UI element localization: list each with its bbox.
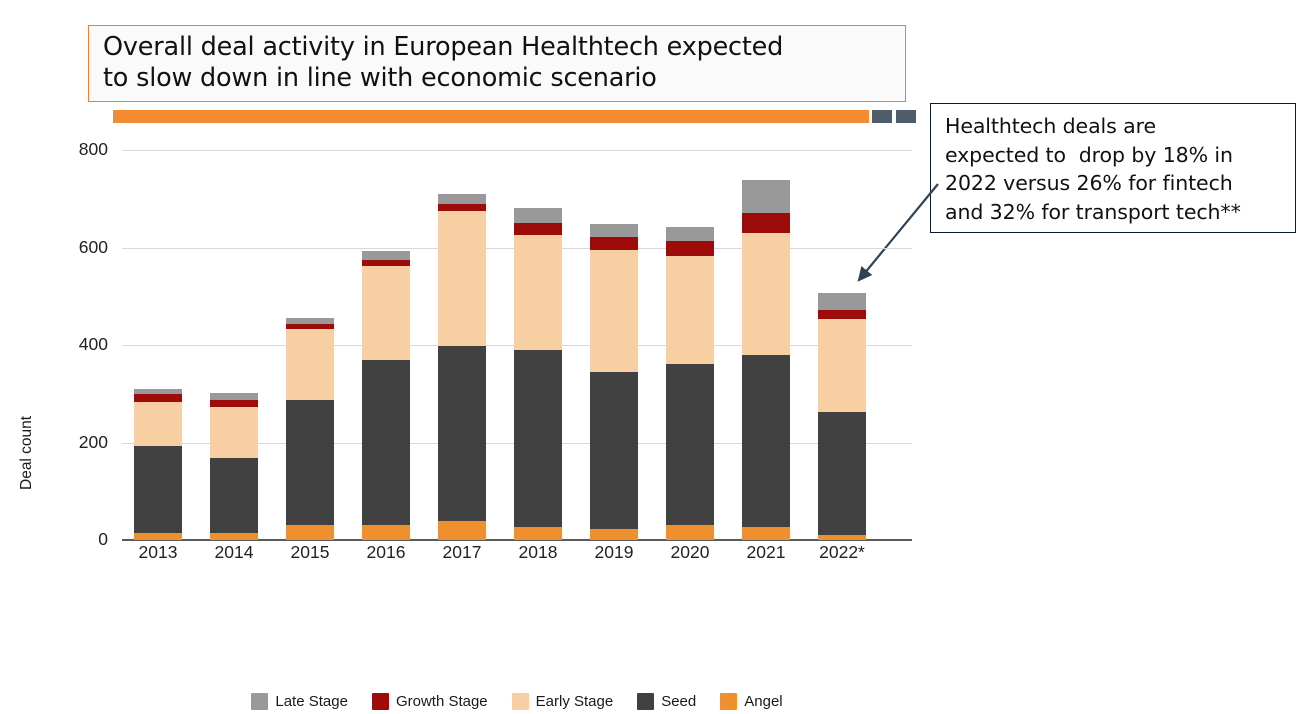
bar-segment-early-stage[interactable] <box>286 329 334 399</box>
bar-segment-growth-stage[interactable] <box>666 241 714 256</box>
bar-segment-growth-stage[interactable] <box>818 310 866 319</box>
bar-segment-growth-stage[interactable] <box>438 204 486 211</box>
y-axis-tick: 200 <box>38 432 108 453</box>
bar-segment-angel[interactable] <box>514 527 562 540</box>
y-axis-tick: 400 <box>38 334 108 355</box>
bar-segment-growth-stage[interactable] <box>134 394 182 402</box>
bar-2022[interactable] <box>818 293 866 540</box>
legend-swatch-icon <box>512 693 529 710</box>
x-axis-tick: 2017 <box>424 542 500 563</box>
x-axis-tick: 2020 <box>652 542 728 563</box>
bar-segment-seed[interactable] <box>742 355 790 527</box>
x-axis-tick: 2022* <box>804 542 880 563</box>
bar-2014[interactable] <box>210 393 258 540</box>
bar-segment-early-stage[interactable] <box>666 256 714 364</box>
legend-swatch-icon <box>720 693 737 710</box>
bar-2019[interactable] <box>590 224 638 540</box>
bar-segment-early-stage[interactable] <box>818 319 866 413</box>
x-axis-tick: 2013 <box>120 542 196 563</box>
legend-swatch-icon <box>372 693 389 710</box>
bar-segment-seed[interactable] <box>438 346 486 521</box>
bar-2013[interactable] <box>134 389 182 540</box>
bar-segment-early-stage[interactable] <box>362 266 410 360</box>
bar-segment-seed[interactable] <box>514 350 562 527</box>
title-box: Overall deal activity in European Health… <box>88 25 906 102</box>
y-axis-tick: 800 <box>38 139 108 160</box>
legend-item-late-stage[interactable]: Late Stage <box>251 693 348 710</box>
bar-segment-growth-stage[interactable] <box>742 213 790 233</box>
title-accent-segment-2 <box>896 110 916 123</box>
x-axis-tick: 2014 <box>196 542 272 563</box>
bar-2016[interactable] <box>362 251 410 540</box>
bar-segment-seed[interactable] <box>286 400 334 526</box>
x-axis-tick: 2016 <box>348 542 424 563</box>
bar-segment-early-stage[interactable] <box>134 402 182 446</box>
bar-segment-growth-stage[interactable] <box>362 260 410 266</box>
bar-segment-seed[interactable] <box>818 412 866 535</box>
bar-segment-late-stage[interactable] <box>286 318 334 324</box>
slide-root: Overall deal activity in European Health… <box>0 0 1314 608</box>
bar-segment-early-stage[interactable] <box>590 250 638 372</box>
bar-segment-angel[interactable] <box>818 535 866 540</box>
bar-segment-growth-stage[interactable] <box>286 324 334 329</box>
x-axis-tick: 2015 <box>272 542 348 563</box>
bar-segment-seed[interactable] <box>666 364 714 525</box>
bar-2020[interactable] <box>666 227 714 540</box>
legend-item-growth-stage[interactable]: Growth Stage <box>372 693 488 710</box>
bar-segment-angel[interactable] <box>210 533 258 540</box>
bar-segment-late-stage[interactable] <box>590 224 638 237</box>
title-text: Overall deal activity in European Health… <box>103 32 893 94</box>
y-axis-label: Deal count <box>18 416 36 490</box>
y-axis-tick: 0 <box>38 529 108 550</box>
x-axis-tick: 2019 <box>576 542 652 563</box>
bar-segment-late-stage[interactable] <box>362 251 410 260</box>
y-axis-tick: 600 <box>38 237 108 258</box>
legend-item-seed[interactable]: Seed <box>637 693 696 710</box>
title-line-1: Overall deal activity in European Health… <box>103 32 893 63</box>
legend-label: Late Stage <box>275 693 348 710</box>
bar-segment-early-stage[interactable] <box>514 235 562 350</box>
bar-segment-angel[interactable] <box>286 525 334 540</box>
title-accent-segment-1 <box>872 110 892 123</box>
bar-segment-early-stage[interactable] <box>210 407 258 457</box>
legend-label: Early Stage <box>536 693 614 710</box>
bar-segment-late-stage[interactable] <box>210 393 258 400</box>
annotation-line-2: expected to drop by 18% in <box>945 141 1289 170</box>
bar-segment-seed[interactable] <box>362 360 410 525</box>
annotation-line-4: and 32% for transport tech** <box>945 198 1289 227</box>
bar-segment-growth-stage[interactable] <box>514 223 562 235</box>
bar-segment-late-stage[interactable] <box>514 208 562 223</box>
bar-segment-angel[interactable] <box>134 533 182 540</box>
bar-segment-late-stage[interactable] <box>666 227 714 241</box>
bar-segment-angel[interactable] <box>590 529 638 540</box>
bar-segment-angel[interactable] <box>742 527 790 540</box>
bar-segment-early-stage[interactable] <box>438 211 486 346</box>
bar-segment-angel[interactable] <box>666 525 714 540</box>
plot-area: 0200400600800201320142015201620172018201… <box>122 150 912 540</box>
title-line-2: to slow down in line with economic scena… <box>103 63 893 94</box>
bar-segment-angel[interactable] <box>362 525 410 540</box>
bar-segment-late-stage[interactable] <box>134 389 182 394</box>
legend-swatch-icon <box>637 693 654 710</box>
bar-segment-angel[interactable] <box>438 521 486 541</box>
legend-item-angel[interactable]: Angel <box>720 693 782 710</box>
bar-segment-seed[interactable] <box>134 446 182 533</box>
chart-area: Deal count 02004006008002013201420152016… <box>0 130 920 608</box>
bar-2017[interactable] <box>438 194 486 540</box>
bar-segment-late-stage[interactable] <box>818 293 866 310</box>
x-axis-tick: 2018 <box>500 542 576 563</box>
annotation-text: Healthtech deals are expected to drop by… <box>945 112 1289 226</box>
title-accent-bar <box>113 110 869 123</box>
x-axis-tick: 2021 <box>728 542 804 563</box>
bar-segment-seed[interactable] <box>590 372 638 529</box>
chart-legend: Late StageGrowth StageEarly StageSeedAng… <box>122 688 912 714</box>
legend-label: Angel <box>744 693 782 710</box>
legend-swatch-icon <box>251 693 268 710</box>
bar-segment-growth-stage[interactable] <box>590 237 638 250</box>
annotation-callout: Healthtech deals are expected to drop by… <box>930 103 1296 233</box>
bar-2018[interactable] <box>514 208 562 540</box>
bar-segment-seed[interactable] <box>210 458 258 534</box>
bar-2021[interactable] <box>742 180 790 540</box>
annotation-line-3: 2022 versus 26% for fintech <box>945 169 1289 198</box>
bar-segment-late-stage[interactable] <box>438 194 486 204</box>
bar-segment-late-stage[interactable] <box>742 180 790 213</box>
legend-item-early-stage[interactable]: Early Stage <box>512 693 614 710</box>
bar-segment-early-stage[interactable] <box>742 233 790 355</box>
bar-2015[interactable] <box>286 318 334 540</box>
gridline <box>122 150 912 151</box>
legend-label: Seed <box>661 693 696 710</box>
bar-segment-growth-stage[interactable] <box>210 400 258 408</box>
annotation-line-1: Healthtech deals are <box>945 112 1289 141</box>
legend-label: Growth Stage <box>396 693 488 710</box>
